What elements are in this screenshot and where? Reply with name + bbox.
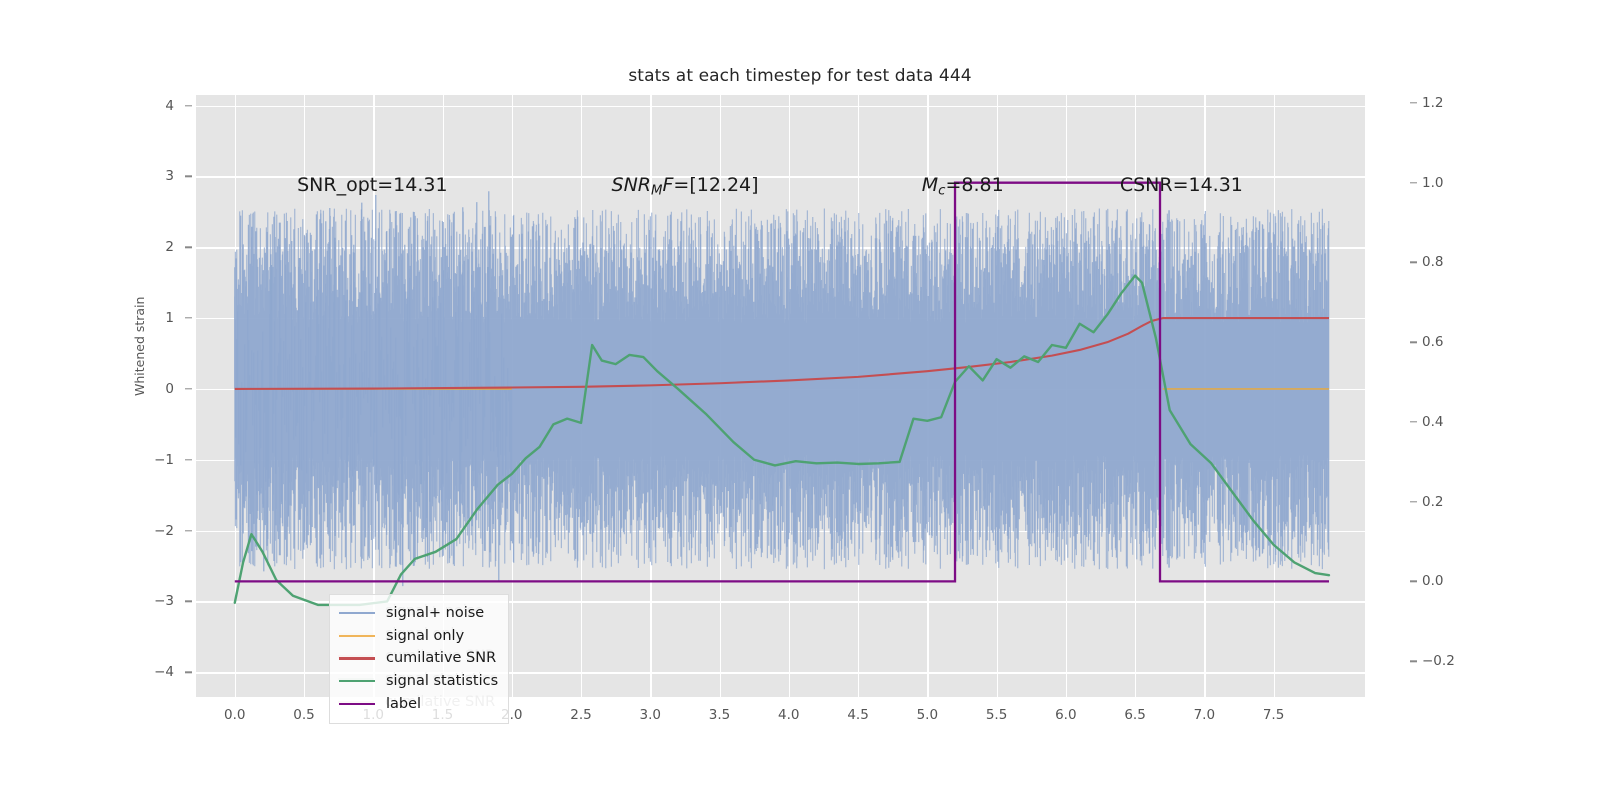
y-axis-left-tick-label: 0 [114, 381, 174, 397]
legend-item-label: signal+ noise [386, 605, 484, 621]
legend-item-signal-only[interactable]: signal only [339, 625, 499, 648]
x-axis-tick-label: 3.5 [690, 707, 750, 723]
y-axis-right-tick-label: 1.2 [1422, 95, 1492, 111]
y-axis-right-tickmark [1410, 660, 1417, 661]
legend-swatch-icon [339, 703, 375, 705]
y-axis-left-tickmark [185, 176, 192, 177]
y-axis-left-tickmark [185, 388, 192, 389]
annotation-snr-mf: SNRMF=[12.24] [612, 174, 759, 198]
legend-item-label: cumilative SNR [386, 650, 496, 666]
y-axis-left-tick-label: 1 [114, 310, 174, 326]
y-axis-right-tickmark [1410, 262, 1417, 263]
y-axis-left-tickmark [185, 601, 192, 602]
y-axis-right-tickmark [1410, 102, 1417, 103]
annotation-snr-opt: SNR_opt=14.31 [297, 174, 447, 196]
legend-item-label[interactable]: label [339, 692, 499, 715]
y-axis-left-tick-label: 2 [114, 239, 174, 255]
y-axis-right-tick-label: 0.0 [1422, 573, 1492, 589]
x-axis-tick-label: 7.0 [1174, 707, 1234, 723]
y-axis-left-tick-label: 4 [114, 98, 174, 114]
y-axis-left-tick-label: −2 [114, 523, 174, 539]
y-axis-left-tick-label: −1 [114, 452, 174, 468]
y-axis-left-tickmark [185, 105, 192, 106]
x-axis-tick-label: 0.0 [205, 707, 265, 723]
annotation-cumulative-snr-value: CSNR=14.31 [1120, 174, 1243, 196]
legend: signal+ noisesignal onlycumilative SNRsi… [329, 594, 509, 724]
figure-canvas: stats at each timestep for test data 444… [0, 0, 1600, 800]
y-axis-right-tick-label: 0.6 [1422, 334, 1492, 350]
legend-item-label: signal statistics [386, 673, 498, 689]
y-axis-right-tick-label: 1.0 [1422, 175, 1492, 191]
legend-swatch-icon [339, 612, 375, 614]
annotation-chirp-mass: Mc=8.81 [922, 174, 1004, 198]
y-axis-right-tickmark [1410, 182, 1417, 183]
y-axis-left-tick-label: −3 [114, 593, 174, 609]
x-axis-tick-label: 6.5 [1105, 707, 1165, 723]
x-axis-tick-label: 3.0 [620, 707, 680, 723]
legend-item-signal-statistics[interactable]: signal statistics [339, 670, 499, 693]
y-axis-left-tickmark [185, 672, 192, 673]
x-axis-tick-label: 6.0 [1036, 707, 1096, 723]
x-axis-tick-label: 0.5 [274, 707, 334, 723]
x-axis-tick-label: 2.5 [551, 707, 611, 723]
x-axis-tick-label: 7.5 [1244, 707, 1304, 723]
legend-item-cumilative-snr[interactable]: cumilative SNR [339, 647, 499, 670]
y-axis-left-tickmark [185, 317, 192, 318]
x-axis-tick-label: 5.5 [967, 707, 1027, 723]
legend-item-label: label [386, 696, 421, 712]
y-axis-left-tickmark [185, 530, 192, 531]
y-axis-left-tickmark [185, 247, 192, 248]
y-axis-right-tick-label: 0.2 [1422, 494, 1492, 510]
y-axis-right-tick-label: −0.2 [1422, 653, 1492, 669]
legend-swatch-icon [339, 657, 375, 659]
y-axis-right-tickmark [1410, 421, 1417, 422]
legend-swatch-icon [339, 635, 375, 637]
y-axis-right-tickmark [1410, 341, 1417, 342]
y-axis-left-tickmark [185, 459, 192, 460]
x-axis-tick-label: 4.5 [828, 707, 888, 723]
y-axis-right-tick-label: 0.8 [1422, 254, 1492, 270]
x-axis-tick-label: 4.0 [759, 707, 819, 723]
legend-item-signal-noise[interactable]: signal+ noise [339, 602, 499, 625]
x-axis-tick-label: 5.0 [897, 707, 957, 723]
legend-item-label: signal only [386, 628, 464, 644]
y-axis-right-tick-label: 0.4 [1422, 414, 1492, 430]
y-axis-left-tick-label: −4 [114, 664, 174, 680]
page-title: stats at each timestep for test data 444 [0, 66, 1600, 86]
legend-swatch-icon [339, 680, 375, 682]
y-axis-right-tickmark [1410, 501, 1417, 502]
y-axis-right-tickmark [1410, 581, 1417, 582]
y-axis-left-tick-label: 3 [114, 168, 174, 184]
